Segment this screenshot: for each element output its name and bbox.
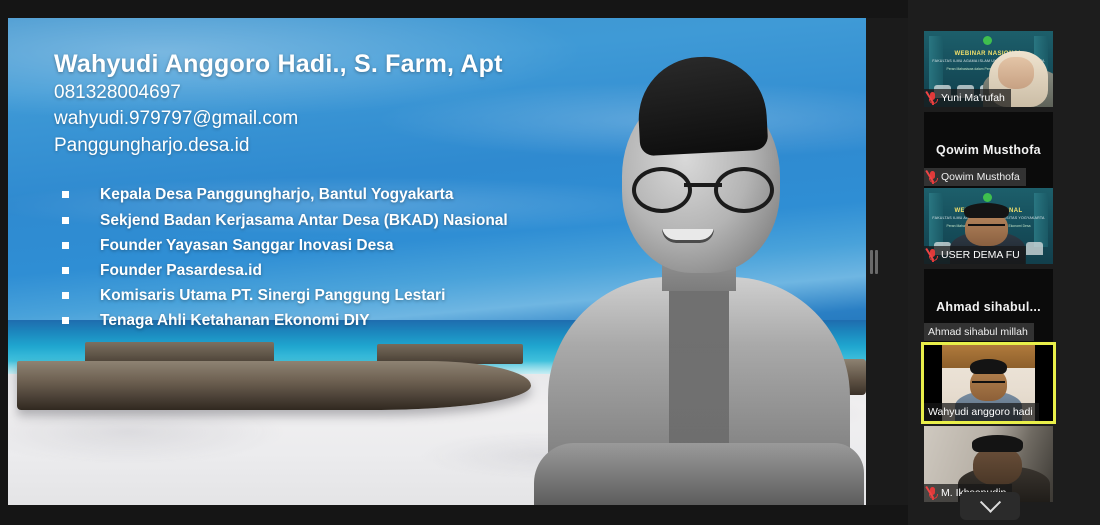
presenter-website: Panggungharjo.desa.id: [54, 133, 566, 160]
mic-muted-icon: [928, 487, 937, 500]
presenter-phone: 081328004697: [54, 80, 566, 107]
presenter-email: wahyudi.979797@gmail.com: [54, 106, 566, 133]
participant-name-label-qowim: Qowim Musthofa: [924, 168, 1026, 186]
peci-cap-shape: [636, 54, 769, 157]
participant-name-centered: Ahmad sihabul...: [924, 300, 1053, 314]
participant-name-label: Yuni Ma'rufah: [924, 89, 1011, 107]
participant-tile-yuni-marufah[interactable]: WEBINAR NASIONAL FAKULTAS ILMU AGAMA ISL…: [924, 31, 1053, 107]
participant-name-centered: Qowim Musthofa: [924, 143, 1053, 157]
presenter-name: Wahyudi Anggoro Hadi., S. Farm, Apt: [54, 50, 566, 80]
presenter-portrait-image: [534, 35, 864, 505]
glasses-icon: [632, 167, 774, 205]
list-item: Komisaris Utama PT. Sinergi Panggung Les…: [54, 283, 566, 308]
list-item: Sekjend Badan Kerjasama Antar Desa (BKAD…: [54, 208, 566, 233]
mic-muted-icon: [928, 92, 937, 105]
slide-text-block: Wahyudi Anggoro Hadi., S. Farm, Apt 0813…: [54, 50, 566, 349]
mic-muted-icon: [928, 171, 937, 184]
participant-name-text: Qowim Musthofa: [941, 170, 1020, 184]
participant-name-label: Wahyudi anggoro hadi: [924, 403, 1039, 421]
chevron-down-icon: [979, 491, 1000, 512]
participant-tile-user-dema-fu[interactable]: WEBINAR NASIONAL FAKULTAS ILMU AGAMA ISL…: [924, 188, 1053, 264]
filmstrip-scroll-down-button[interactable]: [960, 492, 1020, 520]
mic-muted-icon: [928, 249, 937, 262]
boat-decoration: [17, 361, 532, 410]
list-item: Kepala Desa Panggungharjo, Bantul Yogyak…: [54, 182, 566, 207]
list-item: Tenaga Ahli Ketahanan Ekonomi DIY: [54, 308, 566, 333]
video-conference-window: Wahyudi Anggoro Hadi., S. Farm, Apt 0813…: [0, 0, 1100, 525]
presenter-roles-list: Kepala Desa Panggungharjo, Bantul Yogyak…: [54, 182, 566, 333]
participant-name-text: Yuni Ma'rufah: [941, 91, 1005, 105]
participant-name-label-ahmad: Ahmad sihabul millah: [924, 323, 1034, 341]
glasses-icon: [972, 381, 1006, 389]
glasses-icon: [968, 224, 1005, 232]
list-item: Founder Yayasan Sanggar Inovasi Desa: [54, 233, 566, 258]
participant-name-text: Ahmad sihabul millah: [928, 325, 1028, 339]
participant-filmstrip[interactable]: WEBINAR NASIONAL FAKULTAS ILMU AGAMA ISL…: [908, 0, 1100, 525]
list-item: Founder Pasardesa.id: [54, 258, 566, 283]
presentation-slide[interactable]: Wahyudi Anggoro Hadi., S. Farm, Apt 0813…: [8, 18, 866, 505]
shared-screen-stage[interactable]: Wahyudi Anggoro Hadi., S. Farm, Apt 0813…: [0, 0, 908, 525]
participant-tile-m-ikhsanudin[interactable]: M. Ikhsanudin: [924, 426, 1053, 502]
participant-name-text: USER DEMA FU: [941, 248, 1020, 262]
participant-name-label: USER DEMA FU: [924, 246, 1026, 264]
participant-tile-wahyudi-anggoro-hadi[interactable]: Wahyudi anggoro hadi: [924, 345, 1053, 421]
panel-drag-handle[interactable]: [869, 250, 879, 274]
participant-name-text: Wahyudi anggoro hadi: [928, 405, 1033, 419]
